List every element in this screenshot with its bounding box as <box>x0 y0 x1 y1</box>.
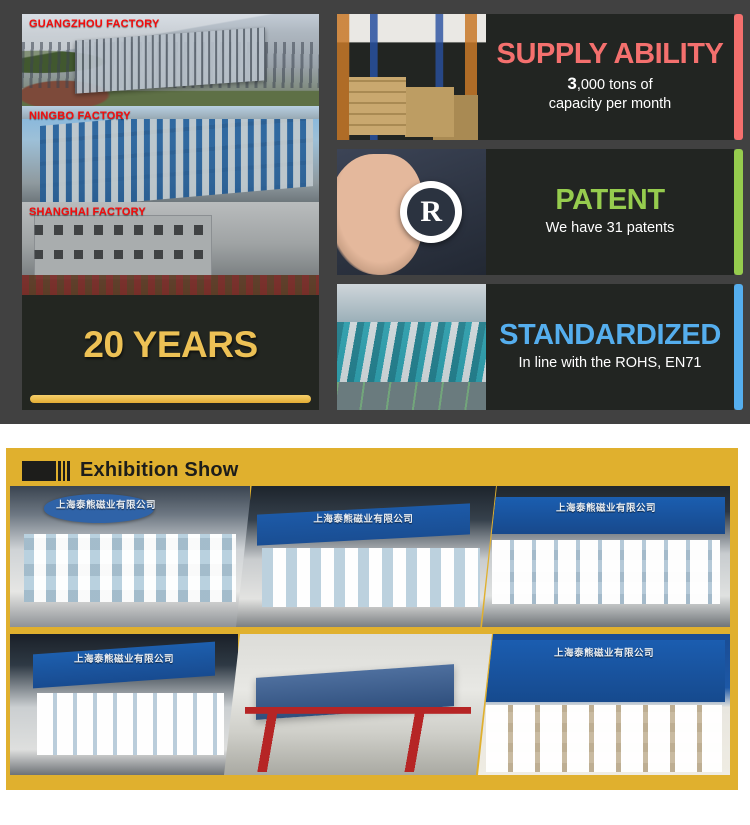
supply-amount-line2: capacity per month <box>549 96 672 112</box>
exhibition-section: Exhibition Show 上海泰熊磁业有限公司 上海泰熊磁业有限公司 上海… <box>6 448 738 790</box>
booth-overview-caption-cn: 上海泰熊磁业有限公司 <box>267 514 459 526</box>
shanghai-factory-photo: SHANGHAI FACTORY <box>22 202 319 295</box>
feature-cards-panel: SUPPLY ABILITY 3,000 tons of capacity pe… <box>333 0 750 424</box>
factory-panel: GUANGZHOU FACTORY NINGBO FACTORY SHANGHA… <box>0 0 333 424</box>
feature-title-supply-ability: SUPPLY ABILITY <box>497 39 724 69</box>
feature-card-supply-ability[interactable]: SUPPLY ABILITY 3,000 tons of capacity pe… <box>337 14 734 140</box>
accent-bar-standardized <box>734 284 743 410</box>
booth-staff-photo[interactable]: 上海泰熊磁业有限公司 <box>10 634 238 775</box>
years-banner: 20 YEARS <box>22 295 319 395</box>
supply-amount-rest: ,000 tons of <box>577 77 653 93</box>
exhibition-header: Exhibition Show <box>6 448 738 486</box>
years-text: 20 YEARS <box>83 324 257 366</box>
feature-card-patent[interactable]: R PATENT We have 31 patents <box>337 149 734 275</box>
exhibition-photo-row-2: 上海泰熊磁业有限公司 上海泰熊磁业有限公司 <box>10 634 730 775</box>
booth-visitors-caption-cn: 上海泰熊磁业有限公司 <box>53 500 159 512</box>
ningbo-factory-label: NINGBO FACTORY <box>29 110 131 122</box>
ningbo-factory-photo: NINGBO FACTORY <box>22 106 319 202</box>
booth-display-photo[interactable]: 上海泰熊磁业有限公司 <box>482 486 730 627</box>
company-signboard-photo[interactable]: 上海泰熊磁业有限公司 <box>478 634 730 775</box>
booth-visitors-photo[interactable]: 上海泰熊磁业有限公司 <box>10 486 250 627</box>
exhibition-photo-row-1: 上海泰熊磁业有限公司 上海泰熊磁业有限公司 上海泰熊磁业有限公司 <box>10 486 730 627</box>
supply-amount-number: 3 <box>567 74 576 93</box>
factory-card: GUANGZHOU FACTORY NINGBO FACTORY SHANGHA… <box>22 14 319 410</box>
shanghai-factory-label: SHANGHAI FACTORY <box>29 206 146 218</box>
feature-body-patent: PATENT We have 31 patents <box>486 149 734 275</box>
company-signboard-caption-cn: 上海泰熊磁业有限公司 <box>493 648 715 660</box>
assembly-line-photo <box>337 284 486 410</box>
feature-subtitle-standardized: In line with the ROHS, EN71 <box>519 354 702 373</box>
feature-body-supply-ability: SUPPLY ABILITY 3,000 tons of capacity pe… <box>486 14 734 140</box>
feature-subtitle-supply-ability: 3,000 tons of capacity per month <box>549 73 672 113</box>
accent-bar-supply-ability <box>734 14 743 140</box>
warehouse-photo <box>337 14 486 140</box>
registered-trademark-icon: R <box>400 181 462 243</box>
guangzhou-factory-label: GUANGZHOU FACTORY <box>29 18 160 30</box>
registered-letter: R <box>407 188 455 236</box>
accent-bar-patent <box>734 149 743 275</box>
feature-card-standardized[interactable]: STANDARDIZED In line with the ROHS, EN71 <box>337 284 734 410</box>
guangzhou-factory-photo: GUANGZHOU FACTORY <box>22 14 319 106</box>
feature-title-patent: PATENT <box>555 185 664 215</box>
feature-body-standardized: STANDARDIZED In line with the ROHS, EN71 <box>486 284 734 410</box>
page-root: GUANGZHOU FACTORY NINGBO FACTORY SHANGHA… <box>0 0 750 825</box>
booth-overview-photo[interactable]: 上海泰熊磁业有限公司 <box>236 486 496 627</box>
magnetic-separator-machine-photo[interactable] <box>224 634 492 775</box>
gold-underline-bar <box>30 395 311 403</box>
booth-display-caption-cn: 上海泰熊磁业有限公司 <box>502 503 710 515</box>
booth-staff-caption-cn: 上海泰熊磁业有限公司 <box>42 654 206 666</box>
feature-subtitle-patent: We have 31 patents <box>546 219 675 238</box>
factory-photo-stack: GUANGZHOU FACTORY NINGBO FACTORY SHANGHA… <box>22 14 319 295</box>
exhibition-title: Exhibition Show <box>80 459 239 482</box>
feature-title-standardized: STANDARDIZED <box>499 320 721 350</box>
capability-section: GUANGZHOU FACTORY NINGBO FACTORY SHANGHA… <box>0 0 750 424</box>
bar-mark-icon <box>22 461 70 481</box>
registered-mark-photo: R <box>337 149 486 275</box>
